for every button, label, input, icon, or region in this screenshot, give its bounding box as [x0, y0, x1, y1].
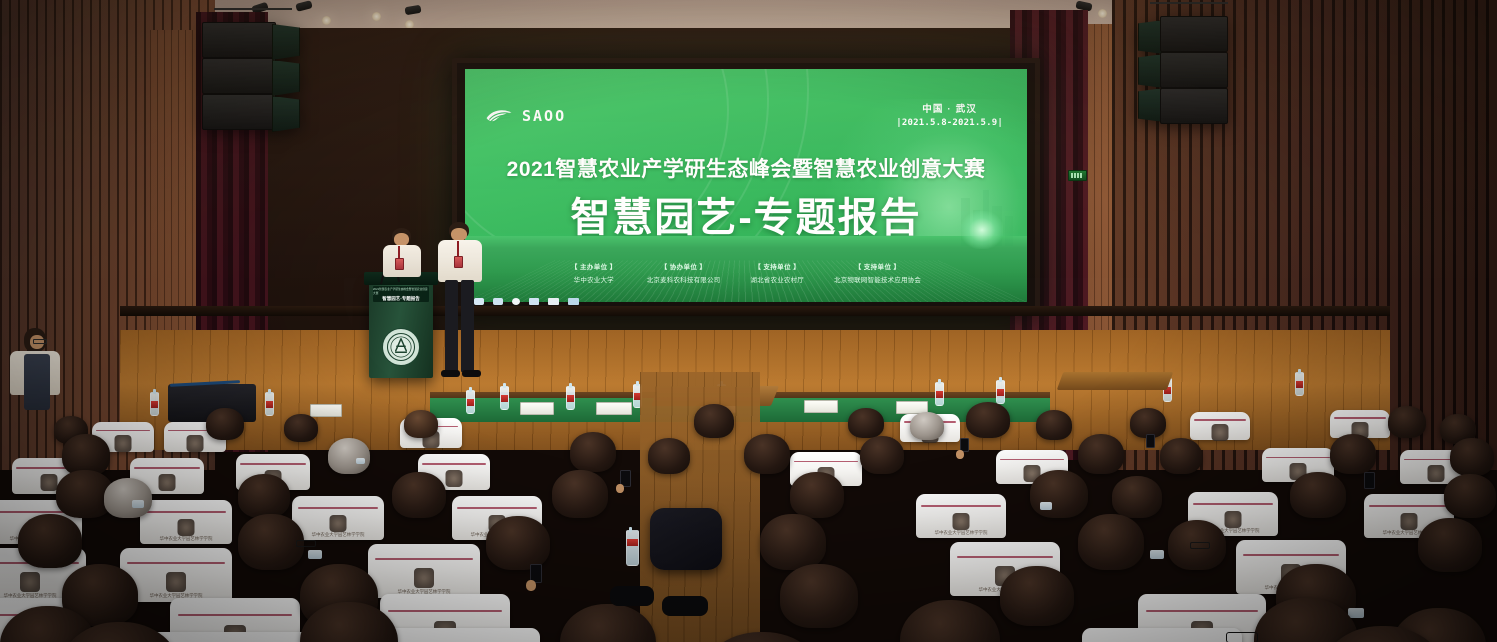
audience-head [238, 514, 304, 570]
window-icon [529, 298, 539, 305]
sponsor-name: 北京物联网智能技术应用协会 [834, 274, 921, 284]
speaker-box [202, 22, 276, 58]
face-mask [308, 550, 322, 559]
sponsor-name: 北京麦科农科技有限公司 [647, 274, 721, 284]
screen-date-range: |2021.5.8-2021.5.9| [896, 118, 1003, 128]
audience-head [206, 408, 244, 440]
podium: 2021智慧农业产学研生态峰会暨智慧农业创意大赛 智慧园艺-专题报告 [369, 282, 433, 378]
hand [616, 484, 624, 493]
audience-head [760, 514, 826, 570]
sponsor-role: 【 协办单位 】 [647, 261, 721, 271]
lanyard [457, 241, 459, 257]
leaf-wing-logo-icon [485, 107, 513, 125]
hand [526, 580, 536, 591]
audience-head [238, 474, 290, 518]
screen-brand-lockup: SAOO [485, 107, 566, 125]
downlight [322, 16, 331, 25]
audience-head [18, 514, 82, 568]
smartphone [1146, 434, 1155, 448]
speaker-box [1160, 88, 1228, 124]
chair [1190, 412, 1250, 440]
university-seal-icon [446, 470, 463, 487]
badge [395, 258, 404, 270]
led-screen-frame: SAOO 中国 · 武汉 |2021.5.8-2021.5.9| 2021智慧农… [452, 58, 1040, 316]
audience-head [1112, 476, 1162, 518]
sponsor-block: 【 支持单位 】 北京物联网智能技术应用协会 [834, 261, 921, 284]
shoe [662, 596, 708, 616]
podium-sign-line2: 智慧园艺-专题报告 [382, 296, 420, 302]
audience-head [780, 564, 858, 628]
audience-head [104, 478, 152, 518]
audience-head [790, 472, 844, 518]
person-legs [445, 280, 458, 372]
downlight [372, 12, 381, 21]
sponsor-block: 【 主办单位 】 华中农业大学 [571, 261, 617, 284]
speaker-box [1160, 52, 1228, 88]
chair-cover-text: 华中农业大学园艺林学学院 [149, 536, 223, 541]
university-seal-icon [187, 435, 204, 452]
circle-icon [512, 298, 520, 305]
speaker-horn [272, 24, 300, 60]
audience-head [328, 438, 370, 474]
date-bracket-right: | [997, 118, 1003, 128]
university-seal-icon [166, 572, 186, 592]
audience-head [404, 410, 438, 438]
audience-head [1036, 410, 1072, 440]
university-seal-icon [414, 568, 434, 588]
university-seal-icon [20, 572, 40, 592]
audience-head [1160, 438, 1202, 474]
university-seal-icon [41, 474, 58, 491]
chair: 华中农业大学园艺林学学院 [916, 494, 1006, 538]
university-seal-icon [382, 328, 420, 366]
chair: 华中农业大学园艺林学学院 [150, 632, 310, 642]
audience-head [1388, 406, 1426, 438]
audience-head [570, 432, 616, 472]
light-flare [961, 211, 1003, 249]
backpack [650, 508, 722, 570]
sponsor-role: 【 支持单位 】 [750, 261, 804, 271]
sponsor-role: 【 主办单位 】 [571, 261, 617, 271]
audience-head [694, 404, 734, 438]
led-screen: SAOO 中国 · 武汉 |2021.5.8-2021.5.9| 2021智慧农… [465, 69, 1027, 302]
face-mask [1150, 550, 1164, 559]
speaker-at-podium [382, 228, 426, 294]
audience-head [1078, 514, 1144, 570]
audience-head [1030, 470, 1088, 518]
screen-subtitle: 2021智慧农业产学研生态峰会暨智慧农业创意大赛 [465, 153, 1027, 183]
exit-sign [1068, 170, 1087, 181]
screen-taskbar [474, 298, 579, 305]
water-bottle [626, 530, 639, 566]
conference-hall-photo: SAOO 中国 · 武汉 |2021.5.8-2021.5.9| 2021智慧农… [0, 0, 1497, 642]
audience-head [1078, 434, 1124, 474]
university-seal-icon [115, 435, 132, 452]
glasses-icon [296, 540, 316, 547]
audience-head [392, 472, 446, 518]
audience-head [700, 632, 824, 642]
audience-head [1000, 566, 1074, 626]
folder-icon [493, 298, 503, 305]
audience-head [848, 408, 884, 438]
sponsor-name: 湖北省农业农村厅 [750, 274, 804, 284]
audience-head [284, 414, 318, 442]
screen-location-block: 中国 · 武汉 |2021.5.8-2021.5.9| [896, 101, 1003, 128]
person-legs [461, 280, 474, 372]
screen-location-city: 中国 · 武汉 [896, 101, 1003, 115]
hzau-seal-glyph [386, 332, 416, 362]
university-seal-icon [953, 513, 970, 530]
audience-head [486, 516, 550, 570]
speaker-standing [437, 222, 483, 382]
line-array-speaker-right [1138, 16, 1248, 128]
audience-head [744, 434, 790, 474]
sponsor-role: 【 支持单位 】 [834, 261, 921, 271]
university-seal-icon [159, 474, 176, 491]
chair: 华中农业大学园艺林学学院 [380, 628, 540, 642]
sponsor-row: 【 主办单位 】 华中农业大学 【 协办单位 】 北京麦科农科技有限公司 【 支… [465, 261, 1027, 284]
badge [454, 256, 463, 268]
audience-head [1330, 434, 1376, 474]
audience-head [1418, 518, 1482, 572]
monitor-icon [568, 298, 579, 305]
chair: 华中农业大学园艺林学学院 [1082, 628, 1242, 642]
audience-head [1450, 438, 1494, 476]
university-seal-icon [1428, 465, 1445, 482]
face-mask [132, 500, 144, 508]
university-seal-icon [1401, 513, 1418, 530]
speaker-box [202, 94, 276, 130]
audience-head [1290, 472, 1346, 518]
sponsor-block: 【 协办单位 】 北京麦科农科技有限公司 [647, 261, 721, 284]
hand [956, 450, 964, 459]
audience-head [560, 604, 656, 642]
sponsor-name: 华中农业大学 [571, 274, 617, 284]
audience-head [900, 600, 1000, 642]
audience-head [966, 402, 1010, 438]
glasses-icon [1190, 542, 1210, 549]
audience-head [552, 470, 608, 518]
speaker-horn [272, 60, 300, 96]
face-mask [356, 458, 365, 464]
speaker-box [1160, 16, 1228, 52]
speaker-box [202, 58, 276, 94]
university-seal-icon [330, 515, 347, 532]
audience-seating: 华中农业大学园艺林学学院 华中农业大学园艺林学学院 华中农业大学园艺林学学院 华… [0, 372, 1497, 642]
face-mask [1040, 502, 1052, 510]
chair-cover-text: 华中农业大学园艺林学学院 [301, 532, 375, 537]
audience-head [1444, 474, 1496, 518]
audience-head [860, 436, 904, 474]
university-seal-icon [1225, 511, 1242, 528]
speaker-horn [272, 96, 300, 132]
audience-head [910, 412, 944, 440]
sponsor-block: 【 支持单位 】 湖北省农业农村厅 [750, 261, 804, 284]
chair: 华中农业大学园艺林学学院 [292, 496, 384, 540]
line-array-speaker-left [202, 22, 312, 142]
stage-edge [120, 306, 1390, 316]
chair-cover-text: 华中农业大学园艺林学学院 [925, 530, 997, 535]
screen-brand-text: SAOO [522, 107, 566, 125]
audience-head [648, 438, 690, 474]
chair: 华中农业大学园艺林学学院 [140, 500, 232, 544]
glasses-icon [1226, 632, 1258, 642]
laptop-icon [548, 298, 559, 305]
smartphone [1364, 472, 1375, 489]
glasses-icon [33, 339, 47, 344]
university-seal-icon [178, 519, 195, 536]
downlight [1098, 9, 1107, 18]
university-seal-icon [1212, 424, 1229, 441]
date-range-text: 2021.5.8-2021.5.9 [902, 118, 998, 128]
chair: 华中农业大学园艺林学学院 [368, 544, 480, 598]
shoe [610, 586, 654, 606]
